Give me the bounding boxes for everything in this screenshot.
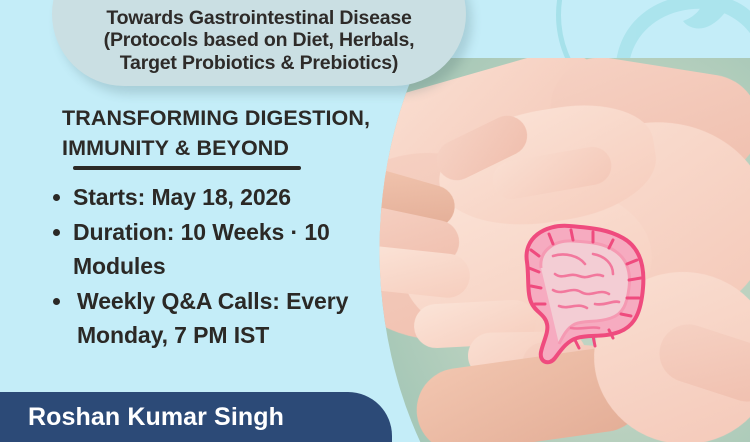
headline-underline (73, 166, 301, 170)
hands-holding-colon-photo (372, 58, 750, 442)
detail-start-date: Starts: May 18, 2026 (73, 184, 291, 210)
course-details-list: Starts: May 18, 2026 Duration: 10 Weeks … (50, 180, 390, 353)
headline: TRANSFORMING DIGESTION, IMMUNITY & BEYON… (62, 103, 412, 163)
course-title-line-1: Towards Gastrointestinal Disease (52, 7, 466, 30)
detail-qa-line-1: Weekly Q&A Calls: (77, 288, 280, 314)
list-item: Weekly Q&A Calls: Every Monday, 7 PM IST (50, 284, 390, 352)
headline-line-2: IMMUNITY & BEYOND (62, 133, 412, 163)
poster-canvas: Towards Gastrointestinal Disease (Protoc… (0, 0, 750, 442)
headline-line-1: TRANSFORMING DIGESTION, (62, 103, 412, 133)
detail-duration-line-2: Modules (73, 253, 166, 279)
detail-duration-line-1: Duration: 10 Weeks · 10 (73, 219, 330, 245)
course-title-line-3: Target Probiotics & Prebiotics) (52, 52, 466, 75)
course-title-pill: Towards Gastrointestinal Disease (Protoc… (52, 0, 466, 86)
presenter-banner: Roshan Kumar Singh (0, 392, 392, 442)
presenter-name: Roshan Kumar Singh (0, 403, 284, 432)
list-item: Starts: May 18, 2026 (50, 180, 390, 214)
course-title-text: Towards Gastrointestinal Disease (Protoc… (52, 7, 466, 75)
course-title-line-2: (Protocols based on Diet, Herbals, (52, 29, 466, 52)
photo-content (372, 58, 750, 442)
paper-colon-illustration (497, 216, 657, 366)
list-item: Duration: 10 Weeks · 10 Modules (50, 215, 390, 283)
